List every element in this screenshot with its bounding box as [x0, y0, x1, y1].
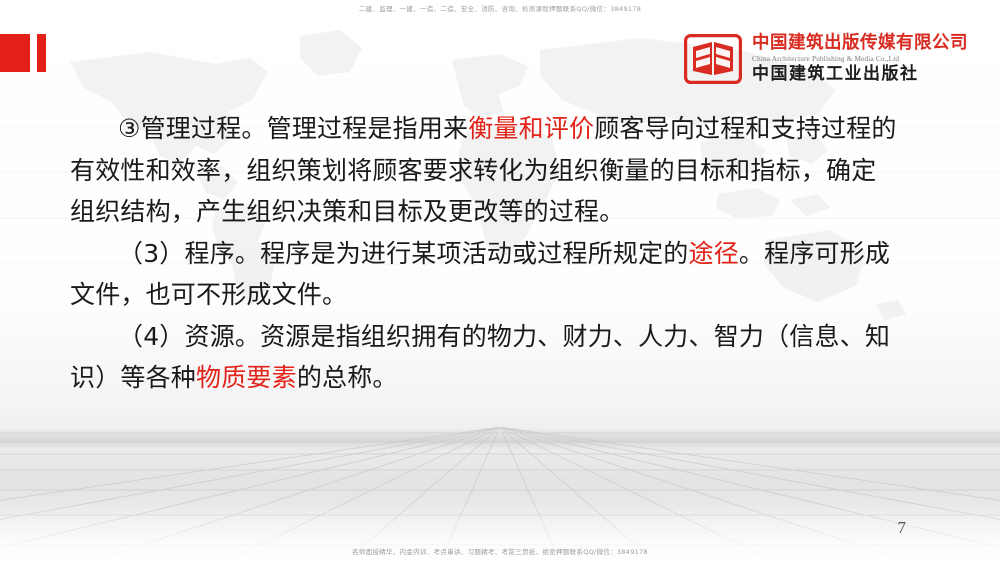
slide-body-text: ③管理过程。管理过程是指用来衡量和评价顾客导向过程和支持过程的有效性和效率，组织… [70, 108, 940, 399]
perspective-floor-grid [0, 427, 1000, 562]
publisher-logo: 中国建筑出版传媒有限公司 China Architecture Publishi… [684, 34, 968, 84]
body-text-run: 文件，也可不形成文件。 [70, 280, 347, 309]
body-paragraph-line: 有效性和效率，组织策划将顾客要求转化为组织衡量的目标和指标，确定 [70, 150, 940, 192]
body-text-run: （3）程序。程序是为进行某项活动或过程所规定的 [118, 239, 689, 268]
header-watermark-text: 二建、监理、一建、一造、二造、安全、消防、咨询、检测课程押题联系QQ/微信：38… [0, 4, 1000, 14]
red-block-gap [30, 34, 37, 35]
body-paragraph-line: 文件，也可不形成文件。 [70, 274, 940, 316]
open-book-logo-icon [684, 34, 742, 84]
body-text-run: 组织结构，产生组织决策和目标及更改等的过程。 [70, 197, 624, 226]
horizon-band [0, 428, 1000, 450]
body-text-run: 有效性和效率，组织策划将顾客要求转化为组织衡量的目标和指标，确定 [70, 156, 876, 185]
publisher-company-en: China Architecture Publishing & Media Co… [752, 55, 968, 62]
body-paragraph-line: （4）资源。资源是指组织拥有的物力、财力、人力、智力（信息、知 [70, 316, 940, 358]
red-block-small [37, 34, 46, 72]
red-decoration-blocks [0, 34, 46, 72]
body-paragraph-line: 识）等各种物质要素的总称。 [70, 357, 940, 399]
publisher-logo-texts: 中国建筑出版传媒有限公司 China Architecture Publishi… [752, 35, 968, 84]
publisher-press-cn: 中国建筑工业出版社 [752, 66, 968, 83]
publisher-company-cn: 中国建筑出版传媒有限公司 [752, 35, 968, 53]
body-text-run: 识）等各种 [70, 363, 196, 392]
footer-watermark-text: 名师面授精华、内金内训、考点串讲、习题精考、考前三页纸、绝密押题联系QQ/微信：… [0, 547, 1000, 557]
page-number: 7 [898, 518, 907, 538]
body-text-run: 的总称。 [297, 363, 398, 392]
body-paragraph-line: 组织结构，产生组织决策和目标及更改等的过程。 [70, 191, 940, 233]
highlighted-term: 衡量和评价 [468, 114, 594, 143]
body-text-run: （4）资源。资源是指组织拥有的物力、财力、人力、智力（信息、知 [118, 322, 890, 351]
highlighted-term: 途径 [689, 239, 739, 268]
body-text-run: 。程序可形成 [739, 239, 890, 268]
body-text-run: ③管理过程。管理过程是指用来 [118, 114, 468, 143]
body-paragraph-line: ③管理过程。管理过程是指用来衡量和评价顾客导向过程和支持过程的 [70, 108, 940, 150]
body-text-run: 顾客导向过程和支持过程的 [594, 114, 896, 143]
highlighted-term: 物质要素 [196, 363, 297, 392]
slide-canvas: 二建、监理、一建、一造、二造、安全、消防、咨询、检测课程押题联系QQ/微信：38… [0, 0, 1000, 562]
red-block-large [0, 34, 30, 72]
body-paragraph-line: （3）程序。程序是为进行某项活动或过程所规定的途径。程序可形成 [70, 233, 940, 275]
